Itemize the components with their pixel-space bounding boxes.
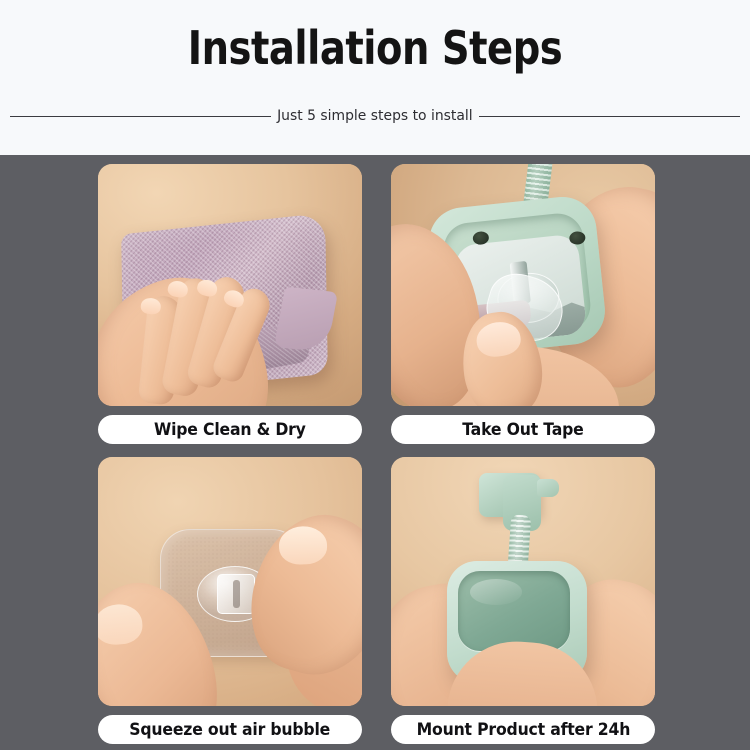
step-caption-1-text: Wipe Clean & Dry: [154, 420, 306, 439]
step-caption-3: Squeeze out air bubble: [98, 715, 362, 744]
bracket-nub-icon: [537, 479, 559, 497]
step-caption-3-text: Squeeze out air bubble: [130, 720, 331, 739]
step-caption-2-text: Take Out Tape: [462, 420, 583, 439]
step-caption-4-text: Mount Product after 24h: [416, 720, 630, 739]
step-photo-2: [391, 164, 655, 406]
step-caption-2: Take Out Tape: [391, 415, 655, 444]
step-photo-4: [391, 457, 655, 706]
page-subtitle: Just 5 simple steps to install: [275, 108, 474, 124]
step-card-3[interactable]: Squeeze out air bubble: [98, 457, 362, 744]
step-caption-1: Wipe Clean & Dry: [98, 415, 362, 444]
pad-clip-icon: [217, 574, 255, 614]
page-title: Installation Steps: [26, 21, 724, 75]
step-card-1[interactable]: Wipe Clean & Dry: [98, 164, 362, 444]
screw-hole-icon: [569, 231, 586, 246]
step-card-4[interactable]: Mount Product after 24h: [391, 457, 655, 744]
product-face-icon: [458, 571, 570, 651]
step-photo-1: [98, 164, 362, 406]
step-caption-4: Mount Product after 24h: [391, 715, 655, 744]
step-photo-3: [98, 457, 362, 706]
divider-line-left: [10, 116, 271, 117]
divider-line-right: [479, 116, 740, 117]
page-header: Installation Steps Just 5 simple steps t…: [0, 0, 750, 155]
step-card-2[interactable]: Take Out Tape: [391, 164, 655, 444]
subtitle-row: Just 5 simple steps to install: [0, 105, 750, 127]
steps-grid: Wipe Clean & Dry: [0, 155, 750, 750]
